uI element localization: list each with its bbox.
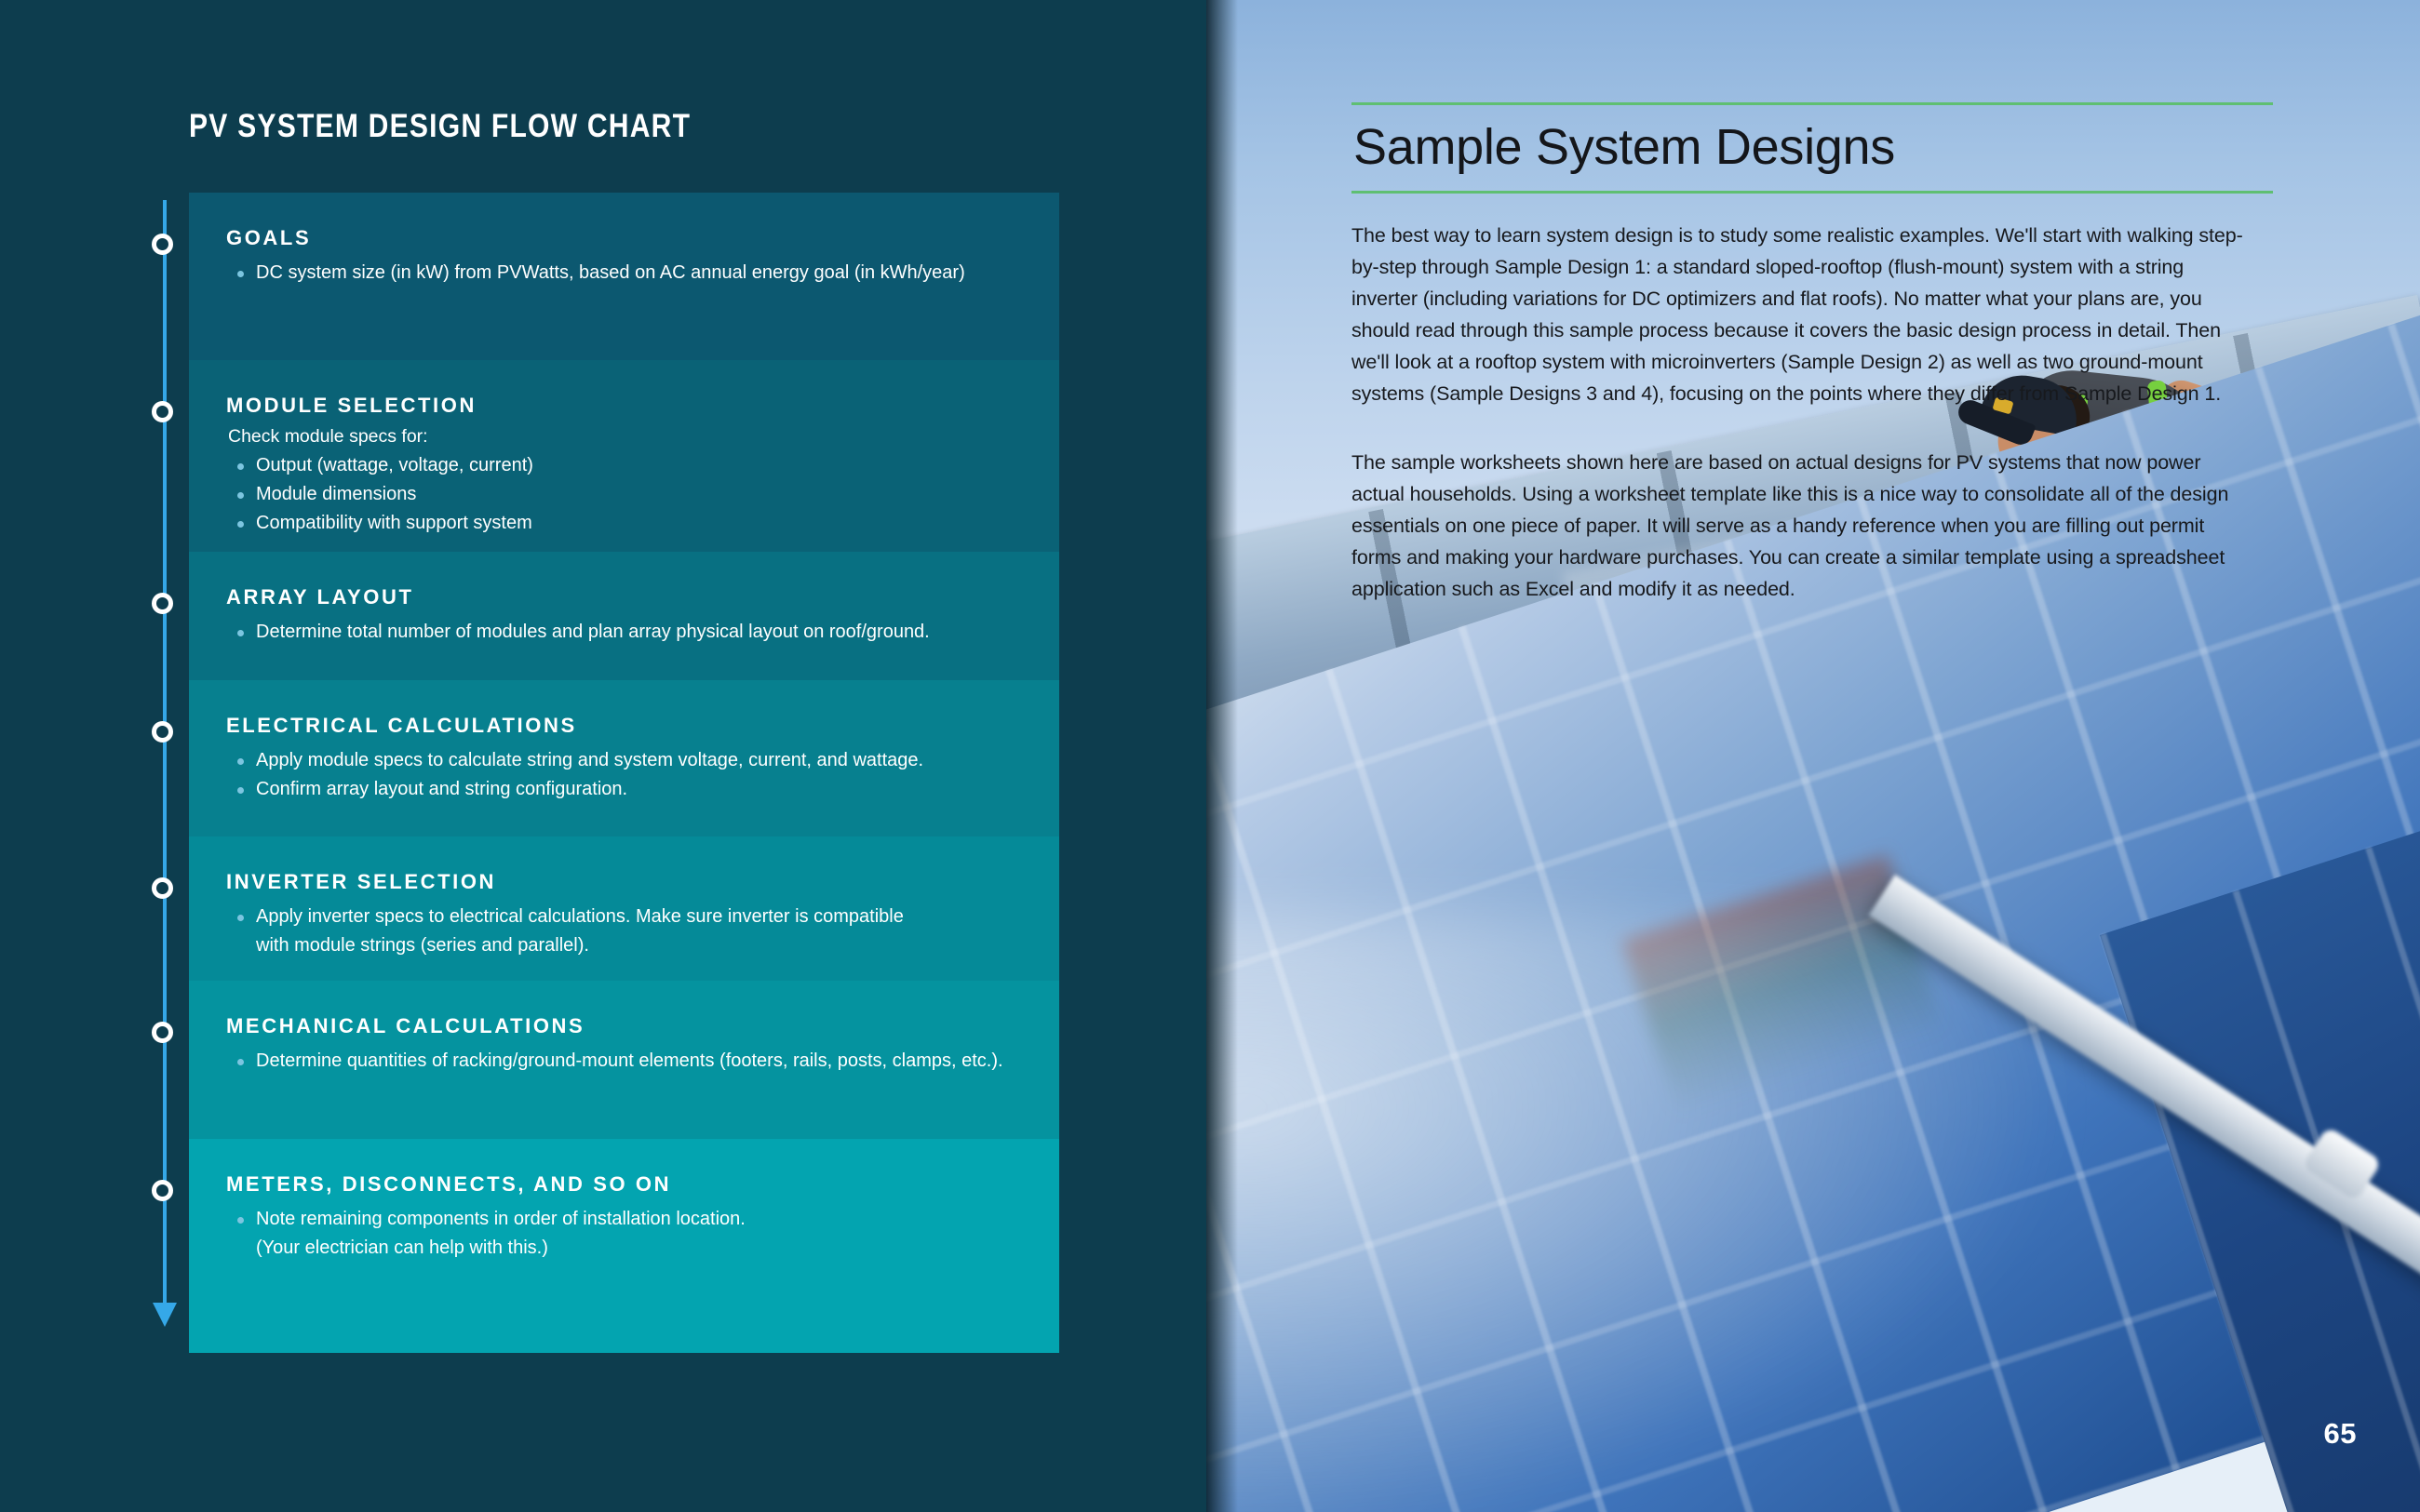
flow-step-7[interactable]: METERS, DISCONNECTS, AND SO ONNote remai… (189, 1139, 1059, 1353)
flow-step-heading: ELECTRICAL CALCULATIONS (226, 714, 1022, 738)
timeline-node-1 (152, 234, 173, 255)
flow-step-subtext: Check module specs for: (228, 426, 1022, 448)
section-title: Sample System Designs (1351, 105, 2273, 191)
foreground-glare-haze (1206, 912, 2137, 1512)
flow-step-heading: MECHANICAL CALCULATIONS (226, 1014, 1022, 1038)
flow-step-bullets: Output (wattage, voltage, current)Module… (226, 451, 1022, 537)
flow-step-list: GOALSDC system size (in kW) from PVWatts… (189, 193, 1059, 1353)
flow-step-bullet: Module dimensions (226, 480, 1022, 508)
flow-step-bullet: Note remaining components in order of in… (226, 1205, 1022, 1233)
flow-step-bullet: Output (wattage, voltage, current) (226, 451, 1022, 479)
timeline-node-7 (152, 1180, 173, 1201)
flow-step-bullet: Determine quantities of racking/ground-m… (226, 1047, 1022, 1075)
article-text-column: Sample System Designs The best way to le… (1351, 0, 2273, 605)
flow-step-1[interactable]: GOALSDC system size (in kW) from PVWatts… (189, 193, 1059, 360)
flow-step-bullet: DC system size (in kW) from PVWatts, bas… (226, 259, 1022, 287)
flow-step-bullets: Note remaining components in order of in… (226, 1205, 1022, 1262)
timeline-node-5 (152, 877, 173, 899)
flow-step-bullet: Apply module specs to calculate string a… (226, 746, 1022, 774)
flow-step-5[interactable]: INVERTER SELECTIONApply inverter specs t… (189, 836, 1059, 981)
body-paragraph-2: The sample worksheets shown here are bas… (1351, 447, 2250, 605)
page-title-flow-chart: PV SYSTEM DESIGN FLOW CHART (189, 108, 691, 145)
flow-step-6[interactable]: MECHANICAL CALCULATIONSDetermine quantit… (189, 981, 1059, 1139)
flow-step-bullet: with module strings (series and parallel… (226, 931, 1022, 959)
timeline-arrow-icon (153, 1303, 177, 1327)
flow-step-heading: INVERTER SELECTION (226, 870, 1022, 894)
flow-step-bullets: Determine total number of modules and pl… (226, 618, 1022, 646)
timeline-node-6 (152, 1022, 173, 1043)
flow-step-bullet: Compatibility with support system (226, 509, 1022, 537)
flow-step-bullets: Apply module specs to calculate string a… (226, 746, 1022, 803)
flow-timeline (160, 200, 169, 1354)
flow-step-bullet: Confirm array layout and string configur… (226, 775, 1022, 803)
flow-step-3[interactable]: ARRAY LAYOUTDetermine total number of mo… (189, 552, 1059, 680)
right-page-content: Sample System Designs The best way to le… (1206, 0, 2420, 1512)
timeline-node-3 (152, 593, 173, 614)
flow-step-heading: ARRAY LAYOUT (226, 585, 1022, 609)
timeline-node-2 (152, 401, 173, 422)
page-number: 65 (2324, 1417, 2357, 1451)
timeline-node-4 (152, 721, 173, 743)
flow-step-2[interactable]: MODULE SELECTIONCheck module specs for:O… (189, 360, 1059, 552)
left-page-flow-chart: PV SYSTEM DESIGN FLOW CHART GOALSDC syst… (0, 0, 1206, 1512)
flow-step-heading: GOALS (226, 226, 1022, 250)
flow-step-heading: MODULE SELECTION (226, 394, 1022, 418)
flow-step-bullets: Determine quantities of racking/ground-m… (226, 1047, 1022, 1075)
flow-step-bullets: Apply inverter specs to electrical calcu… (226, 903, 1022, 959)
title-rule-bottom (1351, 191, 2273, 194)
body-paragraph-1: The best way to learn system design is t… (1351, 220, 2250, 409)
flow-step-bullet: Determine total number of modules and pl… (226, 618, 1022, 646)
flow-step-bullet: Apply inverter specs to electrical calcu… (226, 903, 1022, 930)
flow-step-bullets: DC system size (in kW) from PVWatts, bas… (226, 259, 1022, 287)
flow-step-bullet: (Your electrician can help with this.) (226, 1234, 1022, 1262)
book-spread: PV SYSTEM DESIGN FLOW CHART GOALSDC syst… (0, 0, 2420, 1512)
flow-step-heading: METERS, DISCONNECTS, AND SO ON (226, 1172, 1022, 1197)
timeline-line (163, 200, 167, 1317)
flow-step-4[interactable]: ELECTRICAL CALCULATIONSApply module spec… (189, 680, 1059, 836)
